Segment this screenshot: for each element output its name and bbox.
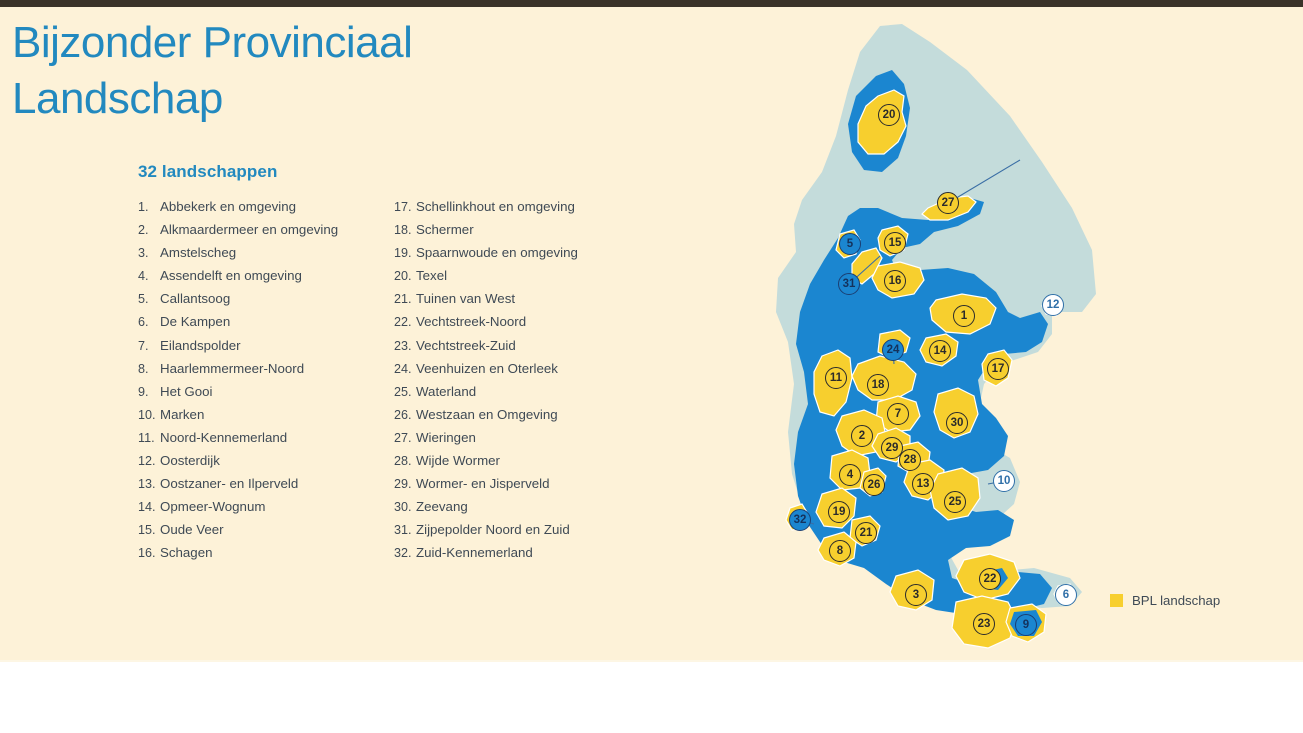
list-item: 7.Eilandspolder [138,338,388,361]
list-item-number: 16. [138,546,160,560]
map-marker-27[interactable]: 27 [937,192,959,214]
list-item-label: Noord-Kennemerland [160,430,287,445]
map-marker-31[interactable]: 31 [838,273,860,295]
list-item-number: 11. [138,431,160,445]
list-item-label: Eilandspolder [160,338,241,353]
list-item-number: 3. [138,246,160,260]
list-item-number: 19. [394,246,416,260]
list-item: 8.Haarlemmermeer-Noord [138,361,388,384]
list-item-label: Abbekerk en omgeving [160,199,296,214]
map-marker-22[interactable]: 22 [979,568,1001,590]
list-item: 24.Veenhuizen en Oterleek [394,361,724,384]
landscape-list-column-2: 17.Schellinkhout en omgeving 18.Schermer… [394,199,724,569]
list-item-label: Veenhuizen en Oterleek [416,361,558,376]
list-item-number: 21. [394,292,416,306]
noord-holland-map: 2027515311611224141711187302292842613102… [752,12,1112,660]
slide-canvas: Bijzonder Provinciaal Landschap 32 lands… [0,7,1303,660]
list-item-label: Marken [160,407,204,422]
list-item-number: 6. [138,315,160,329]
list-item: 18.Schermer [394,222,724,245]
list-item-label: Waterland [416,384,476,399]
list-item: 23.Vechtstreek-Zuid [394,338,724,361]
map-svg [752,12,1112,660]
list-item-label: Wormer- en Jisperveld [416,476,550,491]
list-item-number: 30. [394,500,416,514]
list-item: 26.Westzaan en Omgeving [394,407,724,430]
list-item-number: 27. [394,431,416,445]
list-item-label: Tuinen van West [416,291,515,306]
list-item: 2.Alkmaardermeer en omgeving [138,222,388,245]
slide-footer: Provincie Noord-Holland [0,660,1303,733]
map-marker-10[interactable]: 10 [993,470,1015,492]
list-item-number: 31. [394,523,416,537]
list-item: 16.Schagen [138,545,388,568]
list-item: 30.Zeevang [394,499,724,522]
list-item-number: 26. [394,408,416,422]
map-marker-20[interactable]: 20 [878,104,900,126]
list-item: 28.Wijde Wormer [394,453,724,476]
list-item-label: Zeevang [416,499,468,514]
legend-label-bpl: BPL landschap [1132,593,1220,608]
list-item-number: 9. [138,385,160,399]
slide-root: Bijzonder Provinciaal Landschap 32 lands… [0,0,1303,733]
list-item-label: Schagen [160,545,213,560]
list-item: 31.Zijpepolder Noord en Zuid [394,522,724,545]
map-marker-30[interactable]: 30 [946,412,968,434]
map-marker-7[interactable]: 7 [887,403,909,425]
top-accent-bar [0,0,1303,7]
map-marker-19[interactable]: 19 [828,501,850,523]
list-item-label: Spaarnwoude en omgeving [416,245,578,260]
map-marker-18[interactable]: 18 [867,374,889,396]
map-marker-13[interactable]: 13 [912,473,934,495]
map-marker-2[interactable]: 2 [851,425,873,447]
map-marker-11[interactable]: 11 [825,367,847,389]
list-item-label: Assendelft en omgeving [160,268,302,283]
map-marker-17[interactable]: 17 [987,358,1009,380]
list-item-number: 25. [394,385,416,399]
list-item: 22.Vechtstreek-Noord [394,314,724,337]
list-item: 21.Tuinen van West [394,291,724,314]
list-item: 17.Schellinkhout en omgeving [394,199,724,222]
map-marker-1[interactable]: 1 [953,305,975,327]
map-marker-25[interactable]: 25 [944,491,966,513]
map-marker-21[interactable]: 21 [855,522,877,544]
landscape-list-column-1: 1.Abbekerk en omgeving 2.Alkmaardermeer … [138,199,388,569]
list-item: 11.Noord-Kennemerland [138,430,388,453]
page-title-line-2: Landschap [12,71,712,127]
list-item-number: 22. [394,315,416,329]
map-marker-32[interactable]: 32 [789,509,811,531]
list-item-label: Schellinkhout en omgeving [416,199,575,214]
list-item-label: Zuid-Kennemerland [416,545,533,560]
map-marker-5[interactable]: 5 [839,233,861,255]
list-item-number: 12. [138,454,160,468]
list-item-label: Wijde Wormer [416,453,500,468]
list-item-number: 8. [138,362,160,376]
list-item-number: 28. [394,454,416,468]
list-heading: 32 landschappen [138,162,277,182]
list-item-number: 23. [394,339,416,353]
map-marker-23[interactable]: 23 [973,613,995,635]
list-item: 20.Texel [394,268,724,291]
map-marker-28[interactable]: 28 [899,449,921,471]
legend-swatch-bpl [1110,594,1123,607]
list-item-label: Zijpepolder Noord en Zuid [416,522,570,537]
list-item-label: Amstelscheg [160,245,236,260]
list-item: 6.De Kampen [138,314,388,337]
list-item: 29.Wormer- en Jisperveld [394,476,724,499]
list-item-label: Vechtstreek-Noord [416,314,526,329]
list-item: 1.Abbekerk en omgeving [138,199,388,222]
map-marker-6[interactable]: 6 [1055,584,1077,606]
map-marker-4[interactable]: 4 [839,464,861,486]
list-item-number: 10. [138,408,160,422]
list-item-number: 24. [394,362,416,376]
list-item-number: 32. [394,546,416,560]
footer-divider [0,660,1303,662]
list-item: 12.Oosterdijk [138,453,388,476]
map-marker-14[interactable]: 14 [929,340,951,362]
list-item-number: 2. [138,223,160,237]
list-item: 14.Opmeer-Wognum [138,499,388,522]
map-marker-24[interactable]: 24 [882,339,904,361]
list-item-label: Alkmaardermeer en omgeving [160,222,338,237]
map-marker-3[interactable]: 3 [905,584,927,606]
list-item: 19.Spaarnwoude en omgeving [394,245,724,268]
list-item-label: Westzaan en Omgeving [416,407,558,422]
map-legend: BPL landschap [1110,593,1220,608]
list-item-number: 1. [138,200,160,214]
list-item-label: Oostzaner- en Ilperveld [160,476,298,491]
page-title-line-1: Bijzonder Provinciaal [12,15,712,71]
map-marker-16[interactable]: 16 [884,270,906,292]
list-item: 25.Waterland [394,384,724,407]
map-marker-15[interactable]: 15 [884,232,906,254]
list-item: 5.Callantsoog [138,291,388,314]
list-item-number: 18. [394,223,416,237]
list-item-label: De Kampen [160,314,230,329]
list-item-label: Oosterdijk [160,453,220,468]
map-marker-26[interactable]: 26 [863,474,885,496]
list-item-label: Haarlemmermeer-Noord [160,361,304,376]
list-item-label: Opmeer-Wognum [160,499,265,514]
map-marker-8[interactable]: 8 [829,540,851,562]
list-item-number: 14. [138,500,160,514]
list-item-number: 17. [394,200,416,214]
map-marker-9[interactable]: 9 [1015,614,1037,636]
list-item-label: Oude Veer [160,522,224,537]
list-item: 3.Amstelscheg [138,245,388,268]
list-item-label: Schermer [416,222,474,237]
list-item: 27.Wieringen [394,430,724,453]
list-item-number: 5. [138,292,160,306]
list-item-label: Callantsoog [160,291,230,306]
list-item: 13.Oostzaner- en Ilperveld [138,476,388,499]
list-item-label: Het Gooi [160,384,212,399]
map-marker-12[interactable]: 12 [1042,294,1064,316]
page-title: Bijzonder Provinciaal Landschap [12,15,712,127]
list-item: 4.Assendelft en omgeving [138,268,388,291]
list-item-number: 29. [394,477,416,491]
list-item: 9.Het Gooi [138,384,388,407]
list-item-number: 7. [138,339,160,353]
list-item: 15.Oude Veer [138,522,388,545]
list-item-number: 13. [138,477,160,491]
list-item-number: 4. [138,269,160,283]
list-item: 10.Marken [138,407,388,430]
list-item-number: 20. [394,269,416,283]
list-item-label: Texel [416,268,447,283]
list-item-label: Wieringen [416,430,476,445]
list-item-label: Vechtstreek-Zuid [416,338,516,353]
list-item: 32.Zuid-Kennemerland [394,545,724,568]
list-item-number: 15. [138,523,160,537]
